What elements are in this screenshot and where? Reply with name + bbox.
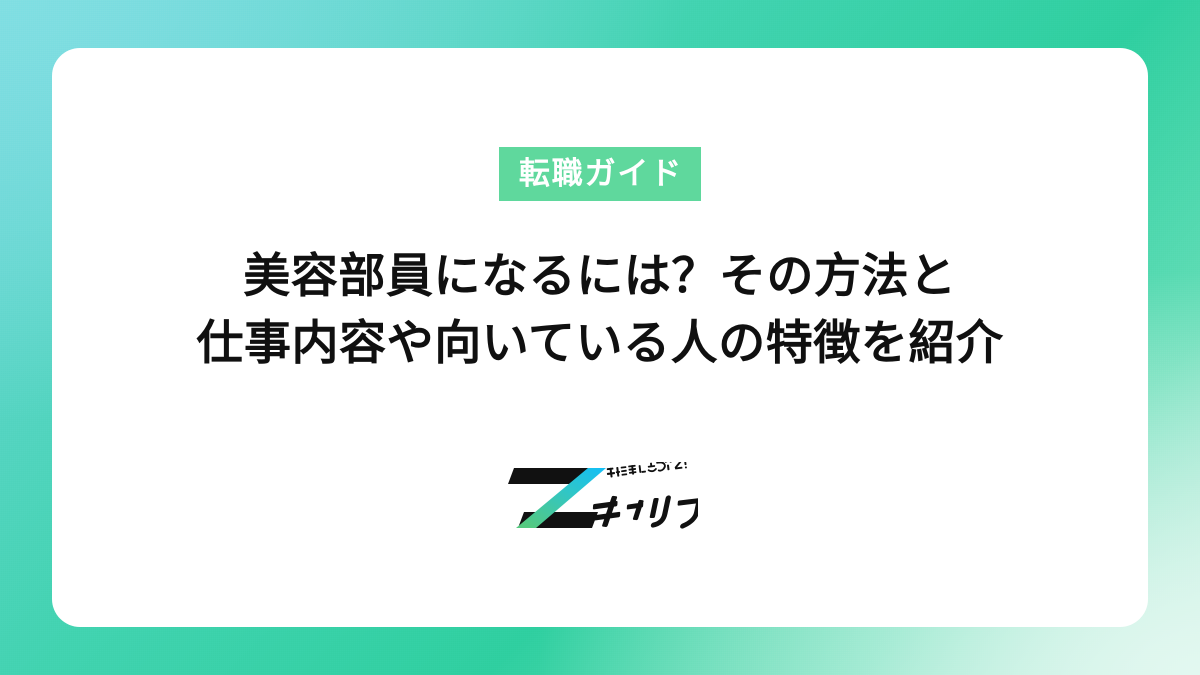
thumbnail-canvas: 転職ガイド 美容部員になるには？その方法と 仕事内容や向いている人の特徴を紹介 … — [0, 0, 1200, 675]
category-badge: 転職ガイド — [499, 147, 701, 201]
logo-wordmark-mark — [588, 496, 698, 527]
page-title-line-2: 仕事内容や向いている人の特徴を紹介 — [95, 310, 1105, 377]
zcareer-logo: キャリア 正社員になろうZ！ — [502, 462, 698, 534]
logo-z-mark — [508, 468, 606, 528]
logo-tagline-mark — [606, 462, 687, 478]
page-title: 美容部員になるには？その方法と 仕事内容や向いている人の特徴を紹介 — [95, 243, 1105, 376]
content-card: 転職ガイド 美容部員になるには？その方法と 仕事内容や向いている人の特徴を紹介 … — [52, 48, 1148, 627]
page-title-line-1: 美容部員になるには？その方法と — [95, 243, 1105, 310]
